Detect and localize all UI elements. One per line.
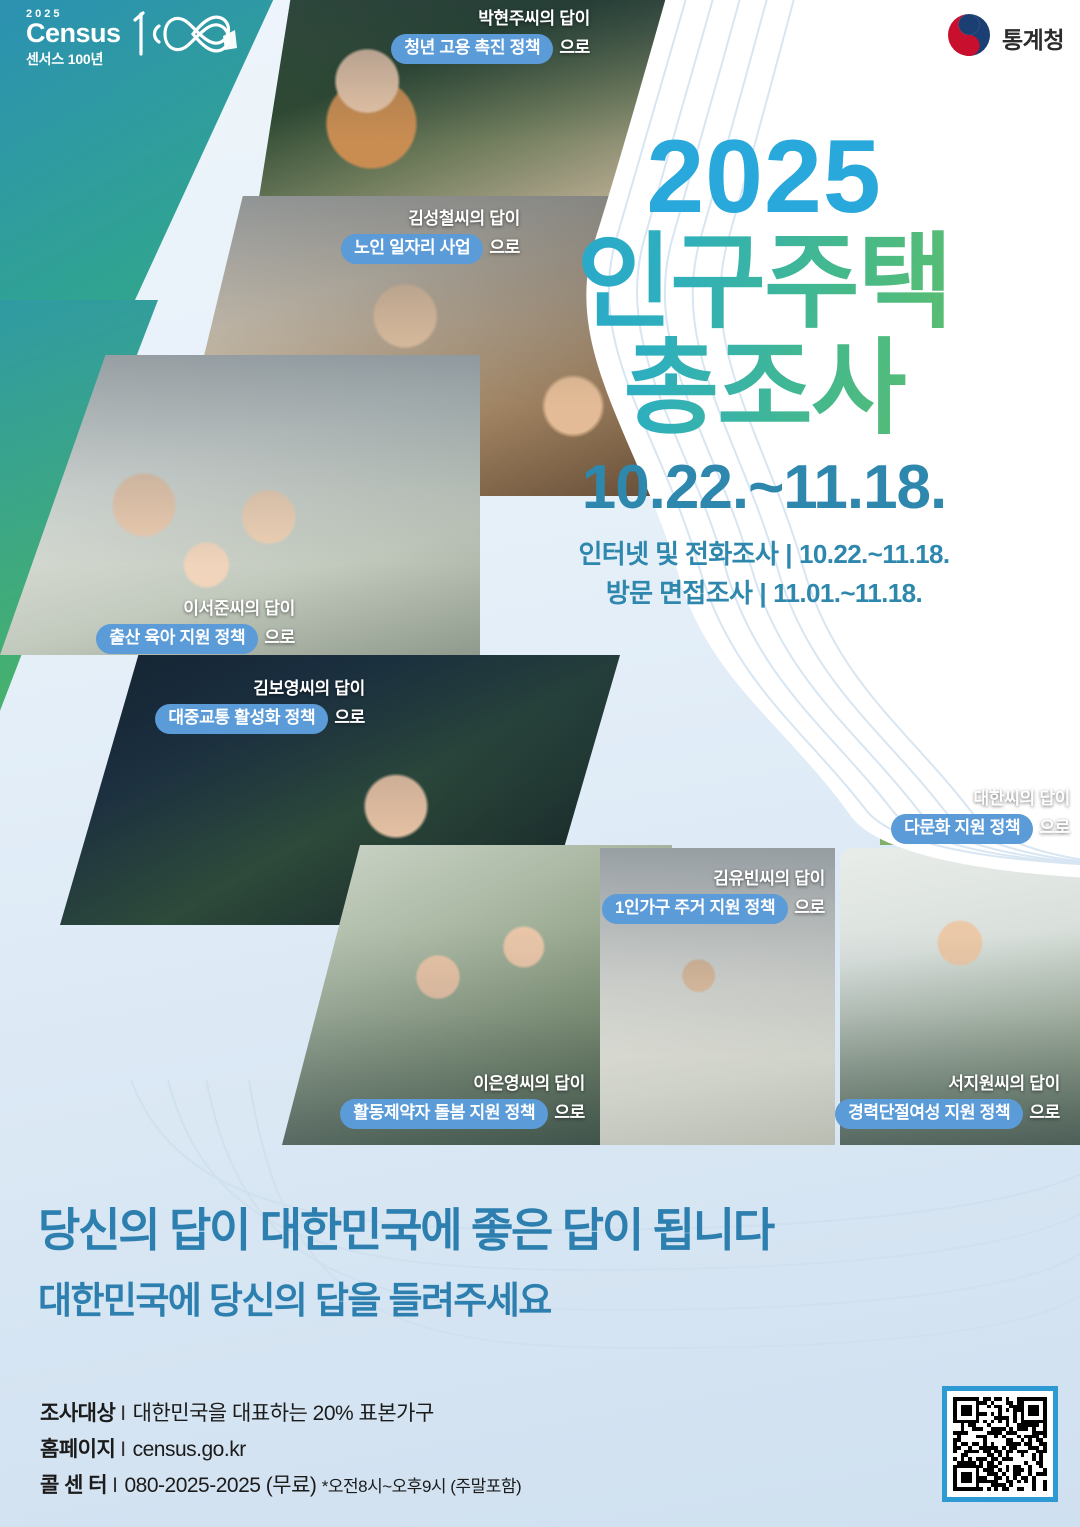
policy-pill: 다문화 지원 정책 — [891, 814, 1033, 843]
caption-career: 서지원씨의 답이 경력단절여성 지원 정책으로 — [790, 1073, 1060, 1129]
footer-row-callcenter: 콜 센 터I080-2025-2025 (무료) *오전8시~오후9시 (주말포… — [40, 1468, 521, 1504]
slogan-main: 당신의 답이 대한민국에 좋은 답이 됩니다 — [38, 1205, 773, 1256]
hero-year: 2025 — [484, 128, 1044, 228]
caption-answer: 노인 일자리 사업으로 — [240, 234, 520, 263]
footer-value-homepage-link[interactable]: census.go.kr — [133, 1438, 246, 1461]
caption-person: 이서준씨의 답이 — [20, 598, 295, 620]
footer-separator: I — [120, 1438, 125, 1461]
schedule-period: 11.01.~11.18. — [773, 578, 922, 608]
census-logo-korean: 센서스 100년 — [26, 49, 121, 69]
census-logo-word: Census — [26, 20, 121, 47]
census-qr-code[interactable] — [942, 1386, 1058, 1502]
caption-person: 박현주씨의 답이 — [300, 8, 590, 30]
footer-separator: I — [112, 1474, 117, 1497]
policy-suffix: 으로 — [334, 707, 365, 729]
kostat-agency-name: 통계청 — [1002, 21, 1064, 55]
caption-answer: 대중교통 활성화 정책으로 — [35, 704, 365, 733]
policy-suffix: 으로 — [559, 37, 590, 59]
caption-family: 이서준씨의 답이 출산 육아 지원 정책으로 — [20, 598, 295, 654]
policy-pill: 노인 일자리 사업 — [341, 234, 483, 263]
caption-single-household: 김유빈씨의 답이 1인가구 주거 지원 정책으로 — [545, 868, 825, 924]
caption-multicultural: 대한씨의 답이 다문화 지원 정책으로 — [830, 788, 1070, 844]
hero-title-line2: 총조사 — [484, 336, 1044, 442]
policy-suffix: 으로 — [794, 897, 825, 919]
policy-suffix: 으로 — [1039, 817, 1070, 839]
policy-suffix: 으로 — [1029, 1102, 1060, 1124]
caption-person: 이은영씨의 답이 — [290, 1073, 585, 1095]
schedule-period: 10.22.~11.18. — [799, 539, 950, 569]
slogan-block: 당신의 답이 대한민국에 좋은 답이 됩니다 대한민국에 당신의 답을 들려주세… — [38, 1205, 773, 1324]
policy-suffix: 으로 — [554, 1102, 585, 1124]
policy-pill: 1인가구 주거 지원 정책 — [602, 894, 788, 923]
footer-label: 조사대상 — [40, 1402, 115, 1425]
policy-pill: 경력단절여성 지원 정책 — [835, 1099, 1023, 1128]
policy-pill: 출산 육아 지원 정책 — [96, 624, 258, 653]
policy-suffix: 으로 — [264, 627, 295, 649]
schedule-row-visit: 방문 면접조사|11.01.~11.18. — [484, 574, 1044, 613]
census-logo: 2025 Census 센서스 100년 — [26, 8, 241, 69]
caption-person: 김보영씨의 답이 — [35, 678, 365, 700]
policy-pill: 활동제약자 돌봄 지원 정책 — [340, 1099, 548, 1128]
hero-title-line1: 인구주택 — [577, 225, 952, 341]
caption-answer: 활동제약자 돌봄 지원 정책으로 — [290, 1099, 585, 1128]
footer-separator: I — [120, 1402, 125, 1425]
caption-person: 김성철씨의 답이 — [240, 208, 520, 230]
caption-answer: 청년 고용 촉진 정책으로 — [300, 34, 590, 63]
hero-date-range: 10.22.~11.18. — [484, 452, 1044, 523]
caption-person: 대한씨의 답이 — [830, 788, 1070, 810]
caption-answer: 출산 육아 지원 정책으로 — [20, 624, 295, 653]
census-poster: 박현주씨의 답이 청년 고용 촉진 정책으로 김성철씨의 답이 노인 일자리 사… — [0, 0, 1080, 1527]
caption-youth: 박현주씨의 답이 청년 고용 촉진 정책으로 — [300, 8, 590, 64]
caption-care: 이은영씨의 답이 활동제약자 돌봄 지원 정책으로 — [290, 1073, 585, 1129]
caption-answer: 경력단절여성 지원 정책으로 — [790, 1099, 1060, 1128]
hero-text-block: 2025 인구주택 총조사 10.22.~11.18. 인터넷 및 전화조사|1… — [484, 128, 1044, 613]
footer-value: 대한민국을 대표하는 20% 표본가구 — [133, 1402, 434, 1425]
policy-pill: 대중교통 활성화 정책 — [155, 704, 328, 733]
caption-person: 서지원씨의 답이 — [790, 1073, 1060, 1095]
footer-value-phone[interactable]: 080-2025-2025 (무료) — [124, 1474, 316, 1497]
survey-schedule: 인터넷 및 전화조사|10.22.~11.18. 방문 면접조사|11.01.~… — [484, 535, 1044, 613]
footer-info: 조사대상I대한민국을 대표하는 20% 표본가구 홈페이지Icensus.go.… — [40, 1396, 521, 1504]
schedule-row-online: 인터넷 및 전화조사|10.22.~11.18. — [484, 535, 1044, 574]
footer-row-homepage: 홈페이지Icensus.go.kr — [40, 1432, 521, 1468]
caption-person: 김유빈씨의 답이 — [545, 868, 825, 890]
footer-label: 콜 센 터 — [40, 1474, 107, 1497]
schedule-separator: | — [785, 539, 792, 569]
policy-pill: 청년 고용 촉진 정책 — [391, 34, 553, 63]
census-100-infinity-mark-icon — [131, 6, 241, 67]
caption-answer: 1인가구 주거 지원 정책으로 — [545, 894, 825, 923]
footer-row-target: 조사대상I대한민국을 대표하는 20% 표본가구 — [40, 1396, 521, 1432]
schedule-method: 인터넷 및 전화조사 — [578, 539, 778, 569]
slogan-sub: 대한민국에 당신의 답을 들려주세요 — [38, 1270, 773, 1324]
kostat-logo: 통계청 — [946, 12, 1064, 63]
schedule-separator: | — [759, 578, 766, 608]
caption-answer: 다문화 지원 정책으로 — [830, 814, 1070, 843]
footer-note-hours: *오전8시~오후9시 (주말포함) — [322, 1477, 521, 1496]
footer-label: 홈페이지 — [40, 1438, 115, 1461]
qr-module-grid — [953, 1397, 1047, 1491]
schedule-method: 방문 면접조사 — [606, 578, 753, 608]
korea-government-taegeuk-icon — [946, 12, 992, 63]
caption-senior: 김성철씨의 답이 노인 일자리 사업으로 — [240, 208, 520, 264]
caption-transit: 김보영씨의 답이 대중교통 활성화 정책으로 — [35, 678, 365, 734]
hero-title: 인구주택 총조사 — [484, 230, 1044, 442]
